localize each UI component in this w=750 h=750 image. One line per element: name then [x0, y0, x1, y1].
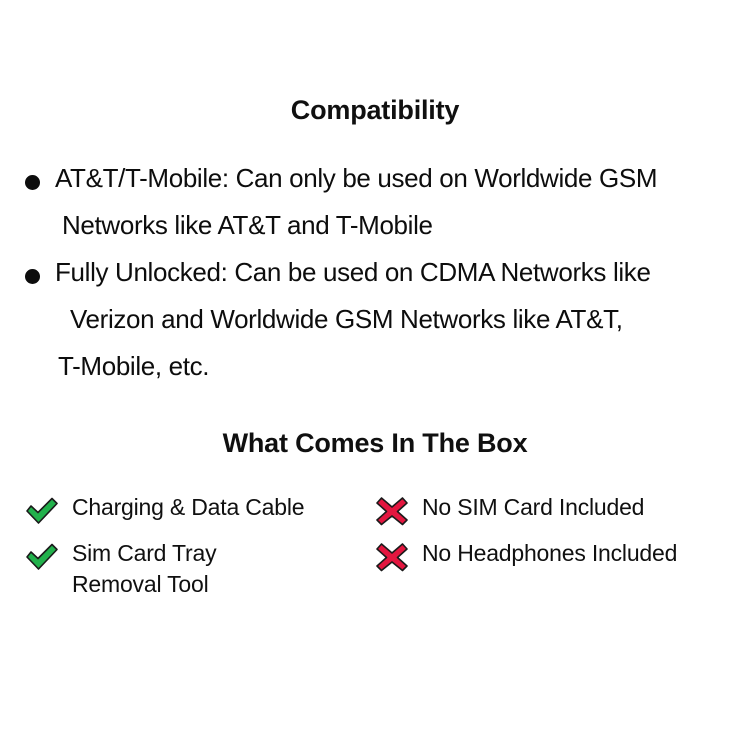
label-line-1: Sim Card Tray: [72, 540, 216, 566]
filled-circle-bullet-icon: [25, 175, 40, 190]
box-contents-heading: What Comes In The Box: [0, 428, 750, 459]
compat-line-text: Fully Unlocked: Can be used on CDMA Netw…: [55, 257, 651, 287]
list-item: No Headphones Included: [375, 538, 735, 572]
compat-line: Fully Unlocked: Can be used on CDMA Netw…: [0, 249, 750, 296]
compatibility-heading: Compatibility: [0, 95, 750, 126]
red-cross-icon: [375, 542, 409, 572]
list-item: Sim Card Tray Removal Tool: [25, 538, 355, 600]
compat-line-text: Verizon and Worldwide GSM Networks like …: [70, 304, 623, 334]
included-column: Charging & Data Cable Sim Card Tray Remo…: [25, 492, 355, 612]
compat-line: T-Mobile, etc.: [0, 343, 750, 390]
list-item: Charging & Data Cable: [25, 492, 355, 526]
label-line-1: No SIM Card Included: [422, 494, 644, 520]
red-cross-icon: [375, 496, 409, 526]
list-item: No SIM Card Included: [375, 492, 735, 526]
label-line-1: Charging & Data Cable: [72, 494, 304, 520]
compat-line: AT&T/T-Mobile: Can only be used on World…: [0, 155, 750, 202]
compat-line-text: T-Mobile, etc.: [58, 351, 209, 381]
included-item-label: Sim Card Tray Removal Tool: [72, 538, 216, 600]
green-check-icon: [25, 542, 59, 572]
not-included-column: No SIM Card Included No Headphones Inclu…: [375, 492, 735, 584]
filled-circle-bullet-icon: [25, 269, 40, 284]
label-line-1: No Headphones Included: [422, 540, 677, 566]
compat-line-text: AT&T/T-Mobile: Can only be used on World…: [55, 163, 657, 193]
label-line-2: Removal Tool: [72, 569, 216, 600]
list-item: Fully Unlocked: Can be used on CDMA Netw…: [0, 249, 750, 390]
not-included-item-label: No Headphones Included: [422, 538, 677, 569]
list-item: AT&T/T-Mobile: Can only be used on World…: [0, 155, 750, 249]
not-included-item-label: No SIM Card Included: [422, 492, 644, 523]
product-info-graphic: Compatibility AT&T/T-Mobile: Can only be…: [0, 0, 750, 750]
compat-line-text: Networks like AT&T and T-Mobile: [62, 210, 433, 240]
compat-line: Verizon and Worldwide GSM Networks like …: [0, 296, 750, 343]
compat-line: Networks like AT&T and T-Mobile: [0, 202, 750, 249]
compatibility-list: AT&T/T-Mobile: Can only be used on World…: [0, 155, 750, 390]
included-item-label: Charging & Data Cable: [72, 492, 304, 523]
green-check-icon: [25, 496, 59, 526]
